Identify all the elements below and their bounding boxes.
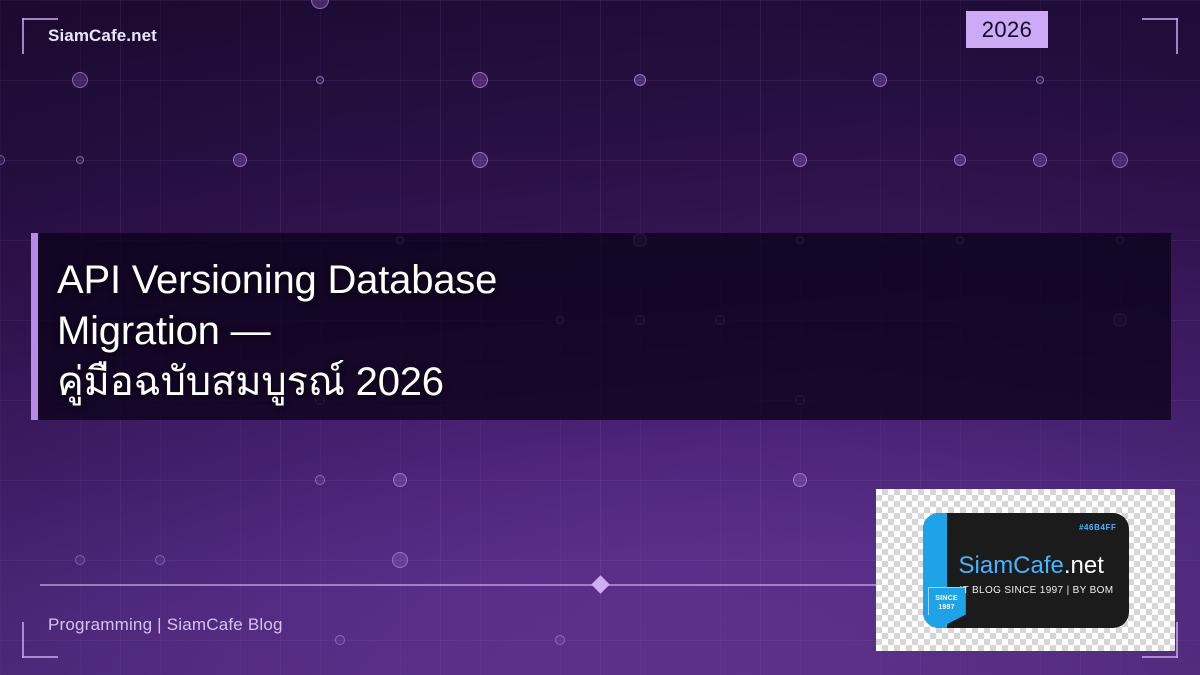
hero-accent-bar xyxy=(31,233,38,420)
background-node xyxy=(316,76,324,84)
footer-category: Programming | SiamCafe Blog xyxy=(48,615,283,635)
hero-title: API Versioning Database Migration — คู่ม… xyxy=(57,255,1145,408)
logo-wordmark: SiamCafe.net xyxy=(959,552,1104,580)
hero-title-band: API Versioning Database Migration — คู่ม… xyxy=(31,233,1171,420)
logo-name-primary: SiamCafe xyxy=(959,552,1064,579)
year-badge: 2026 xyxy=(966,11,1048,48)
logo-badge: #46B4FF SiamCafe.net IT BLOG SINCE 1997 … xyxy=(923,513,1129,628)
background-node xyxy=(1033,153,1047,167)
background-node xyxy=(873,73,887,87)
logo-tagline: IT BLOG SINCE 1997 | BY BOM xyxy=(960,585,1114,596)
background-node xyxy=(76,156,84,164)
logo-name-suffix: .net xyxy=(1064,552,1104,579)
background-node xyxy=(954,154,966,166)
logo-hex-code: #46B4FF xyxy=(1079,523,1117,532)
ribbon-line-1: SINCE xyxy=(935,594,957,603)
background-node xyxy=(311,0,329,9)
background-node xyxy=(0,155,5,165)
background-node xyxy=(1036,76,1044,84)
background-node xyxy=(793,153,807,167)
background-node xyxy=(392,552,408,568)
background-node xyxy=(335,635,345,645)
background-node xyxy=(315,475,325,485)
background-node xyxy=(72,72,88,88)
diamond-marker-icon xyxy=(591,575,609,593)
background-node xyxy=(75,555,85,565)
background-node xyxy=(634,74,646,86)
ribbon-line-2: 1997 xyxy=(938,603,954,612)
site-brand: SiamCafe.net xyxy=(48,26,157,46)
corner-bracket-top-right xyxy=(1142,18,1178,54)
background-node xyxy=(472,72,488,88)
logo-card: #46B4FF SiamCafe.net IT BLOG SINCE 1997 … xyxy=(876,489,1175,651)
poster-canvas: SiamCafe.net 2026 API Versioning Databas… xyxy=(0,0,1200,675)
background-node xyxy=(1112,152,1128,168)
background-node xyxy=(793,473,807,487)
background-node xyxy=(393,473,407,487)
background-node xyxy=(233,153,247,167)
background-node xyxy=(555,635,565,645)
background-node xyxy=(472,152,488,168)
background-node xyxy=(155,555,165,565)
